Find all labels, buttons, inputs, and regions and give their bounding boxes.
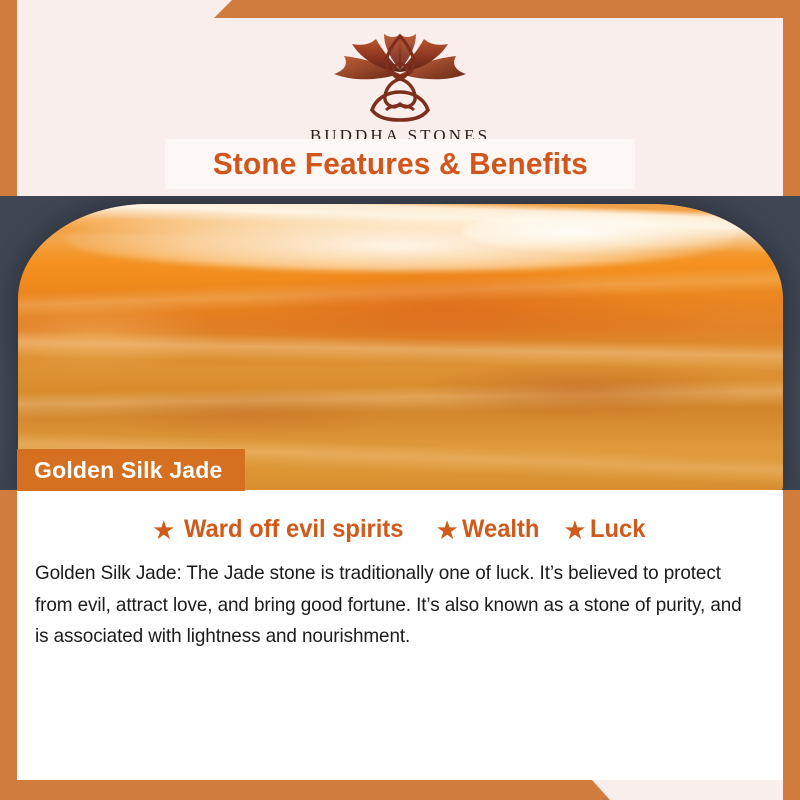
benefit-item-luck: ★ Luck (563, 515, 648, 544)
frame-top-bar (0, 0, 800, 18)
benefit-label: Wealth (462, 515, 539, 544)
brand-logo: BUDDHA STONES (310, 30, 490, 146)
star-icon: ★ (152, 517, 175, 543)
stone-highlight (462, 210, 737, 254)
stone-name-label: Golden Silk Jade (34, 457, 223, 484)
benefit-label: Luck (590, 515, 645, 544)
page-title: Stone Features & Benefits (212, 146, 587, 182)
benefit-item-ward-off-evil-spirits: ★ Ward off evil spirits (152, 515, 415, 544)
frame-bottom-bar (0, 780, 800, 800)
benefits-list: ★ Ward off evil spirits ★ Wealth ★ Luck (17, 515, 783, 544)
stone-name-banner: Golden Silk Jade (17, 449, 245, 491)
lotus-meditation-icon (318, 30, 482, 122)
benefit-item-wealth: ★ Wealth (435, 515, 543, 544)
benefit-label: Ward off evil spirits (184, 515, 404, 544)
stone-photo (0, 196, 800, 490)
star-icon: ★ (435, 517, 458, 543)
jade-stone-block (18, 204, 783, 490)
page-title-box: Stone Features & Benefits (165, 139, 635, 189)
stone-description: Golden Silk Jade: The Jade stone is trad… (35, 558, 743, 653)
content-area: ★ Ward off evil spirits ★ Wealth ★ Luck … (17, 490, 783, 780)
star-icon: ★ (563, 517, 586, 543)
stone-feature-poster: BUDDHA STONES Stone Features & Benefits … (0, 0, 800, 800)
